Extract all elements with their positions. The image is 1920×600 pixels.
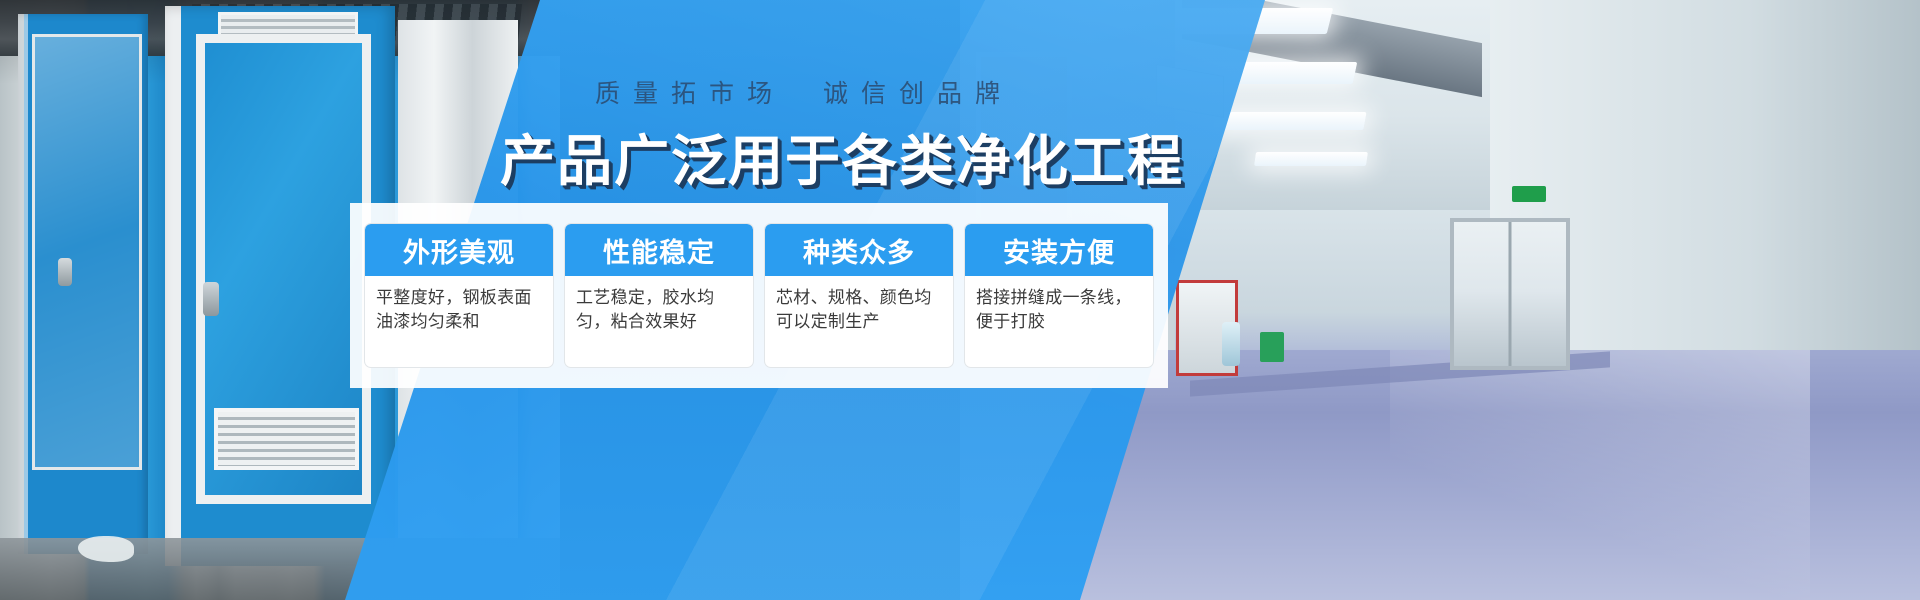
feature-card-body: 芯材、规格、颜色均可以定制生产 bbox=[765, 276, 953, 334]
ceiling-light-4 bbox=[1254, 152, 1368, 166]
cabin-unit-left bbox=[18, 14, 148, 554]
feature-card[interactable]: 性能稳定 工艺稳定，胶水均匀，粘合效果好 bbox=[564, 223, 754, 368]
feature-card-title: 性能稳定 bbox=[565, 224, 753, 276]
corridor-bottle bbox=[1222, 322, 1240, 366]
feature-card[interactable]: 外形美观 平整度好，钢板表面油漆均匀柔和 bbox=[364, 223, 554, 368]
feature-card-body: 搭接拼缝成一条线，便于打胶 bbox=[965, 276, 1153, 334]
promo-banner: 质量拓市场 诚信创品牌 产品广泛用于各类净化工程 外形美观 平整度好，钢板表面油… bbox=[0, 0, 1920, 600]
feature-card-title: 外形美观 bbox=[365, 224, 553, 276]
cabin-handle-left bbox=[58, 258, 72, 286]
banner-headline: 产品广泛用于各类净化工程 bbox=[500, 116, 1100, 196]
feature-card-body: 工艺稳定，胶水均匀，粘合效果好 bbox=[565, 276, 753, 334]
feature-card[interactable]: 安装方便 搭接拼缝成一条线，便于打胶 bbox=[964, 223, 1154, 368]
cabin-door-handle bbox=[203, 282, 219, 316]
feature-card[interactable]: 种类众多 芯材、规格、颜色均可以定制生产 bbox=[764, 223, 954, 368]
corridor-end-door bbox=[1450, 218, 1570, 370]
feature-card-title: 种类众多 bbox=[765, 224, 953, 276]
feature-card-body: 平整度好，钢板表面油漆均匀柔和 bbox=[365, 276, 553, 334]
feature-card-title: 安装方便 bbox=[965, 224, 1153, 276]
ceiling-light-3 bbox=[1213, 112, 1366, 130]
green-equipment-box bbox=[1260, 332, 1284, 362]
banner-tagline: 质量拓市场 诚信创品牌 bbox=[534, 74, 1074, 110]
cabin-glass-panel bbox=[32, 34, 142, 470]
exit-sign-icon bbox=[1512, 186, 1546, 202]
vent-bottom bbox=[214, 408, 359, 470]
feature-cards-panel: 外形美观 平整度好，钢板表面油漆均匀柔和 性能稳定 工艺稳定，胶水均匀，粘合效果… bbox=[350, 203, 1168, 388]
floor-reflection bbox=[1390, 350, 1810, 600]
